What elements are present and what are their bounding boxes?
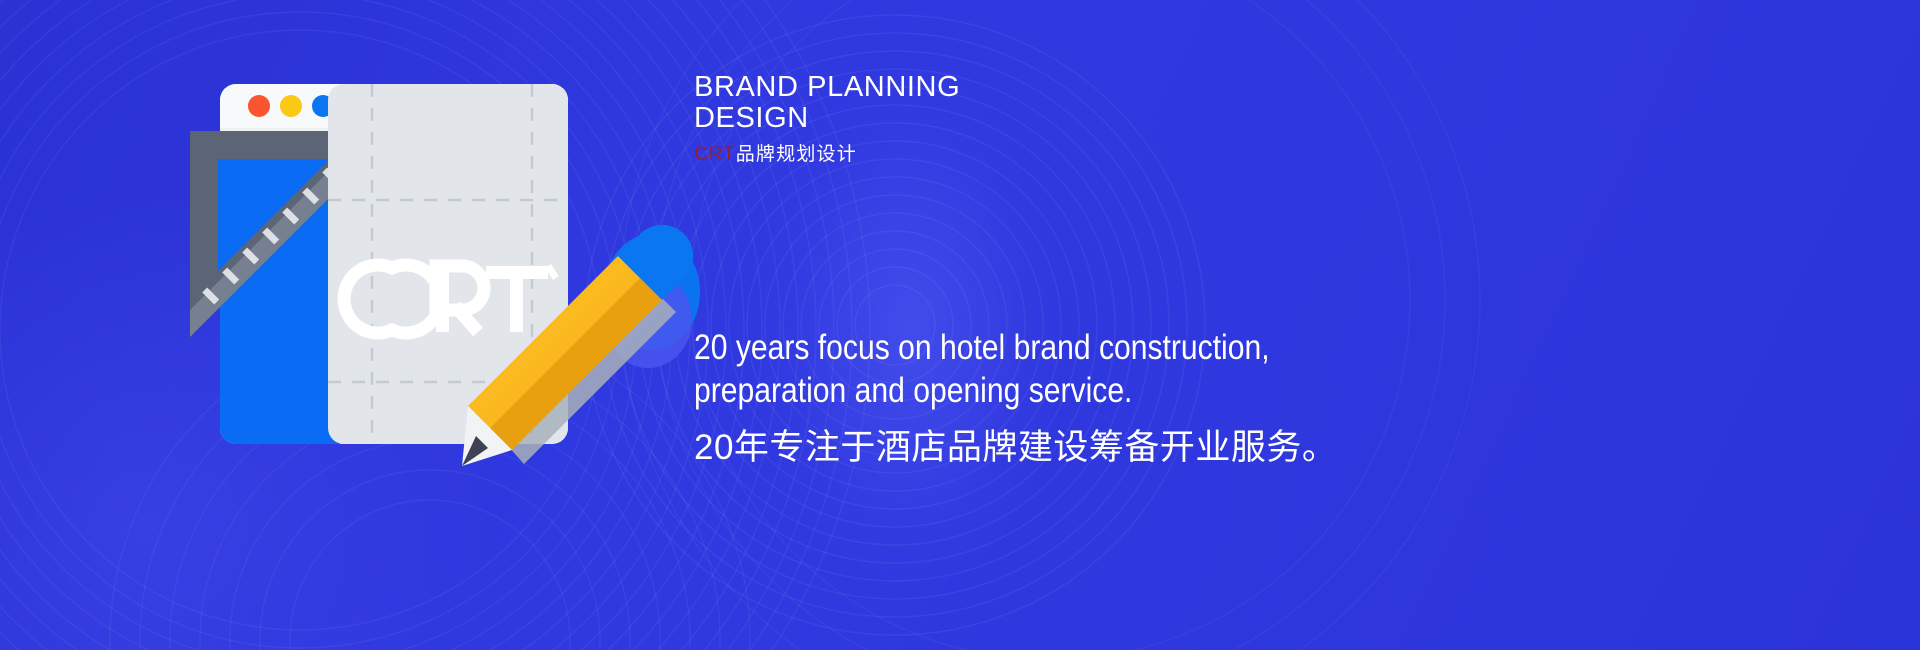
subheading: CRT品牌规划设计	[694, 143, 1394, 166]
tagline-zh: 20年专注于酒店品牌建设筹备开业服务。	[694, 426, 1494, 470]
text-column: BRAND PLANNING DESIGN CRT品牌规划设计 20 years…	[694, 0, 1874, 650]
heading-line-1: BRAND PLANNING	[694, 72, 1394, 103]
subheading-brand: CRT	[694, 144, 736, 165]
brand-design-illustration	[0, 0, 760, 650]
tagline-block: 20 years focus on hotel brand constructi…	[694, 326, 1494, 470]
minimize-dot-icon	[280, 95, 302, 117]
hero-banner: BRAND PLANNING DESIGN CRT品牌规划设计 20 years…	[0, 0, 1920, 650]
heading-block: BRAND PLANNING DESIGN CRT品牌规划设计	[694, 72, 1394, 166]
tagline-en-line-1: 20 years focus on hotel brand constructi…	[694, 326, 1382, 369]
heading-line-2: DESIGN	[694, 103, 1394, 134]
close-dot-icon	[248, 95, 270, 117]
subheading-text: 品牌规划设计	[736, 144, 857, 165]
tagline-en-line-2: preparation and opening service.	[694, 369, 1382, 412]
